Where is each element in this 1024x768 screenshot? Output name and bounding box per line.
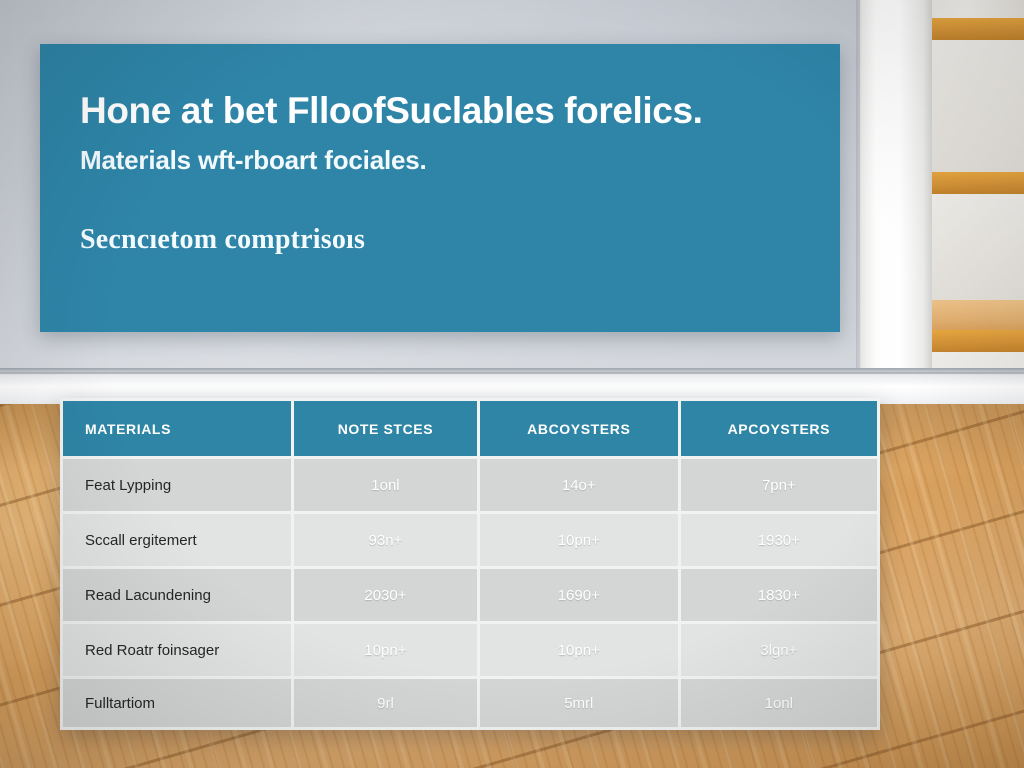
row-value-apco: 1830+ xyxy=(681,569,877,621)
row-value-note: 93n+ xyxy=(294,514,477,566)
stair-tread-4 xyxy=(928,330,1024,352)
row-value-note: 1onl xyxy=(294,459,477,511)
table-row: Sccall ergitemert 93n+ 10pn+ 1930+ xyxy=(63,514,877,566)
table-row: Feat Lypping 1onl 14o+ 7pn+ xyxy=(63,459,877,511)
row-value-abco: 10pn+ xyxy=(480,624,678,676)
room-scene: Hone at bet FlloofSuclables forelics. Ma… xyxy=(0,0,1024,768)
stair-tread-1 xyxy=(928,18,1024,40)
row-value-apco: 3lgn+ xyxy=(681,624,877,676)
column-header-note-stces[interactable]: NOTE STCES xyxy=(294,401,477,456)
row-label: Sccall ergitemert xyxy=(63,514,291,566)
stair-tread-2 xyxy=(928,172,1024,194)
table-row: Red Roatr foinsager 10pn+ 10pn+ 3lgn+ xyxy=(63,624,877,676)
row-value-apco: 1onl xyxy=(681,679,877,727)
row-label: Fulltartiom xyxy=(63,679,291,727)
row-value-note: 9rl xyxy=(294,679,477,727)
table-row: Read Lacundening 2030+ 1690+ 1830+ xyxy=(63,569,877,621)
table-row: Fulltartiom 9rl 5mrl 1onl xyxy=(63,679,877,727)
headline-banner: Hone at bet FlloofSuclables forelics. Ma… xyxy=(40,44,840,332)
row-value-note: 2030+ xyxy=(294,569,477,621)
comparison-table: MATERIALS NOTE STCES ABCOYSTERS APCOYSTE… xyxy=(60,398,880,730)
baseboard-shadow-line xyxy=(0,372,1024,374)
row-value-note: 10pn+ xyxy=(294,624,477,676)
banner-section-heading: Secncıetom comptrisoıs xyxy=(80,224,784,256)
comparison-table-card: MATERIALS NOTE STCES ABCOYSTERS APCOYSTE… xyxy=(60,398,880,730)
table-header-row: MATERIALS NOTE STCES ABCOYSTERS APCOYSTE… xyxy=(63,401,877,456)
stair-tread-3 xyxy=(928,300,1024,330)
banner-title: Hone at bet FlloofSuclables forelics. xyxy=(80,90,784,131)
column-header-apcoysters[interactable]: APCOYSTERS xyxy=(681,401,877,456)
row-value-apco: 1930+ xyxy=(681,514,877,566)
row-value-abco: 1690+ xyxy=(480,569,678,621)
row-label: Read Lacundening xyxy=(63,569,291,621)
table-header: MATERIALS NOTE STCES ABCOYSTERS APCOYSTE… xyxy=(63,401,877,456)
column-header-materials[interactable]: MATERIALS xyxy=(63,401,291,456)
stair-riser-1 xyxy=(928,40,1024,172)
banner-subtitle: Materials wft-rboart fociales. xyxy=(80,145,784,176)
stair-riser-2 xyxy=(928,194,1024,300)
column-header-abcoysters[interactable]: ABCOYSTERS xyxy=(480,401,678,456)
row-value-abco: 5mrl xyxy=(480,679,678,727)
row-label: Red Roatr foinsager xyxy=(63,624,291,676)
row-label: Feat Lypping xyxy=(63,459,291,511)
row-value-abco: 10pn+ xyxy=(480,514,678,566)
row-value-abco: 14o+ xyxy=(480,459,678,511)
row-value-apco: 7pn+ xyxy=(681,459,877,511)
table-body: Feat Lypping 1onl 14o+ 7pn+ Sccall ergit… xyxy=(63,459,877,727)
